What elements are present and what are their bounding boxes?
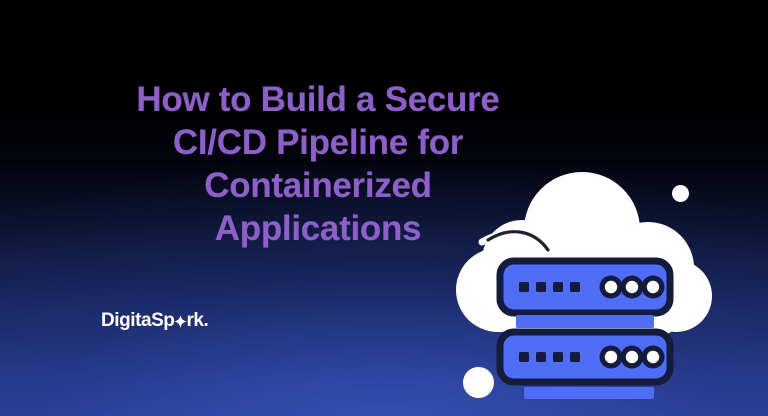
four-point-sparkle-icon: [174, 315, 187, 328]
brand-logo[interactable]: DigitaSp rk.: [101, 311, 208, 330]
logo-text-part-two: rk.: [186, 311, 208, 330]
decorative-dot-small: [672, 185, 689, 202]
server-top-base-bar: [516, 315, 654, 328]
server-rack-top: [500, 261, 670, 328]
server-top-indicators: [600, 276, 665, 299]
logo-text-part-one: DigitaSp: [101, 311, 174, 330]
title-line-2: CI/CD Pipeline for: [52, 121, 584, 164]
server-rack-bottom: [500, 332, 670, 399]
banner-canvas: How to Build a Secure CI/CD Pipeline for…: [0, 0, 768, 416]
server-bottom-base-bar: [524, 387, 654, 399]
server-bottom-indicators: [600, 346, 665, 369]
decorative-dot-large: [463, 367, 494, 398]
title-line-1: How to Build a Secure: [52, 78, 584, 121]
